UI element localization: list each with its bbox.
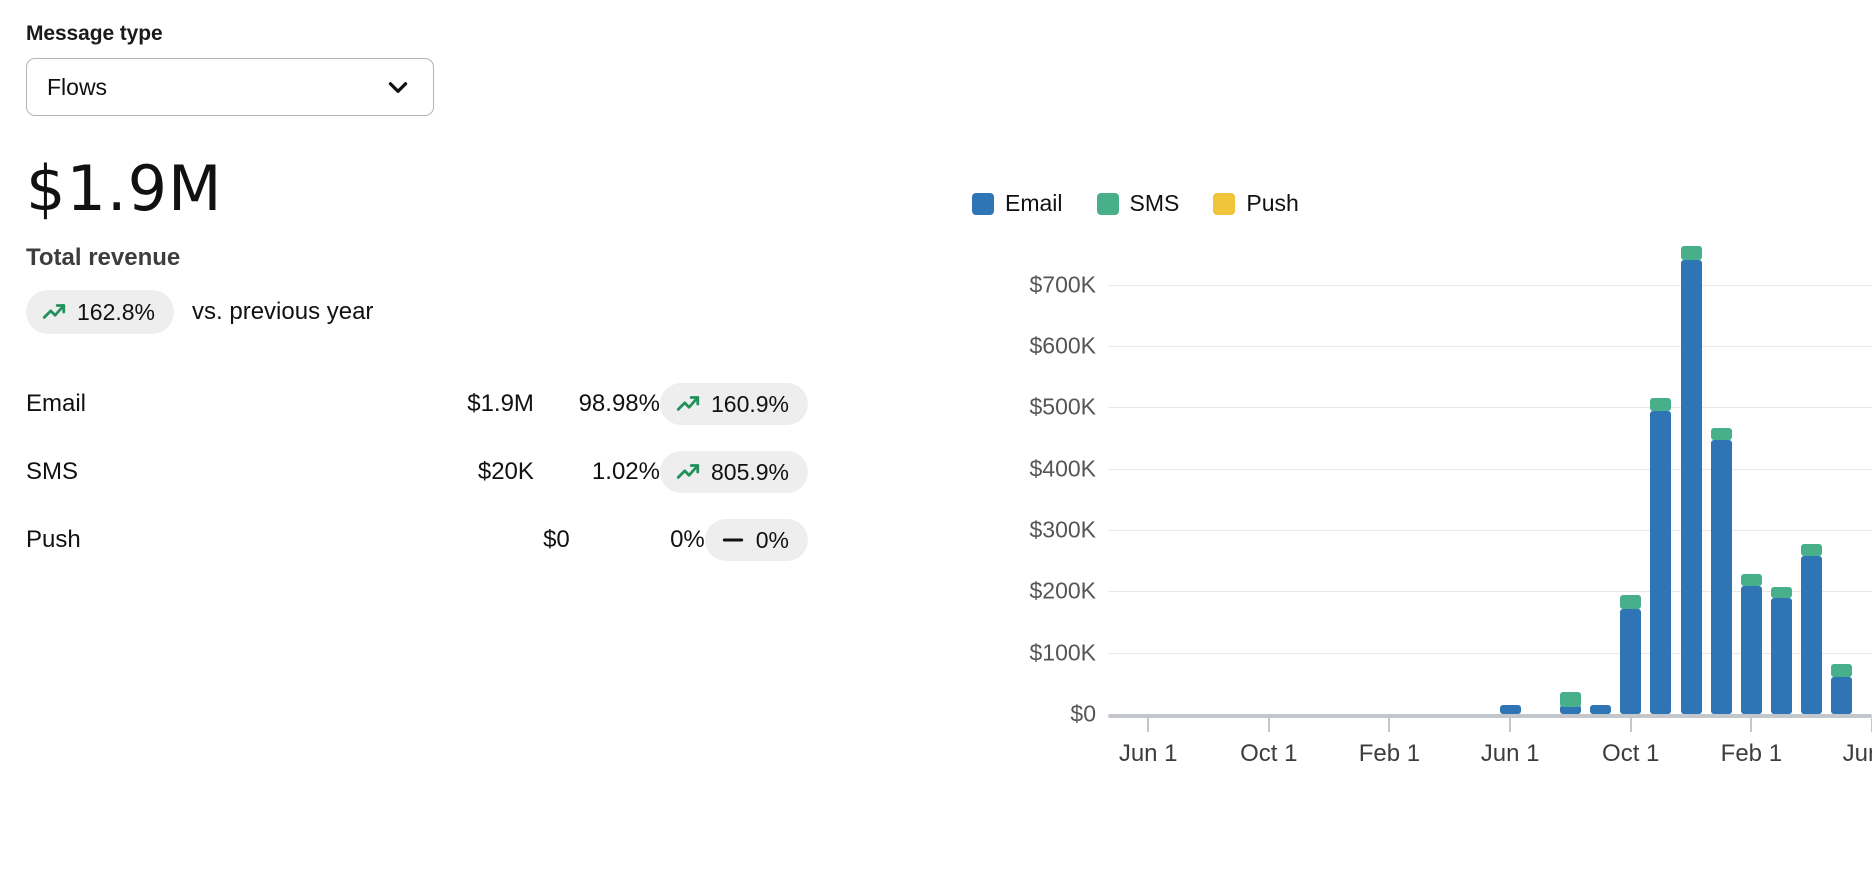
- bar-segment-email: [1681, 260, 1702, 714]
- y-axis-tick-label: $300K: [1029, 517, 1096, 544]
- y-axis-labels: $0$100K$200K$300K$400K$500K$600K$700K: [960, 248, 1096, 718]
- bar-column[interactable]: [1711, 428, 1732, 714]
- channel-breakdown-table: Email $1.9M 98.98% 160.9%: [26, 370, 936, 574]
- y-axis-tick-label: $500K: [1029, 394, 1096, 421]
- total-revenue-value: $1.9M: [26, 158, 956, 220]
- channel-name: SMS: [26, 458, 431, 486]
- bar-segment-email: [1620, 609, 1641, 714]
- x-axis-labels: Jun 1Oct 1Feb 1Jun 1Oct 1Feb 1Jun 1: [1108, 740, 1872, 780]
- legend-swatch-push: [1213, 193, 1235, 215]
- comparison-period-label: vs. previous year: [192, 298, 373, 326]
- bar-segment-sms: [1711, 428, 1732, 440]
- x-axis-tick: [1630, 718, 1632, 732]
- x-axis-tick-label: Jun 1: [1843, 740, 1872, 768]
- channel-delta-cell: 805.9%: [660, 451, 936, 493]
- bar-segment-sms: [1650, 398, 1671, 410]
- channel-name: Email: [26, 390, 431, 418]
- bar-segment-email: [1831, 677, 1852, 714]
- chevron-down-icon: [385, 74, 411, 100]
- bar-segment-email: [1711, 440, 1732, 714]
- x-axis-ticks: [1108, 718, 1872, 734]
- y-axis-tick-label: $600K: [1029, 333, 1096, 360]
- y-axis-tick-label: $0: [1070, 701, 1096, 728]
- bar-segment-email: [1650, 411, 1671, 715]
- legend-label-sms: SMS: [1130, 190, 1180, 217]
- channel-name: Push: [26, 526, 459, 554]
- channel-delta-value: 0%: [756, 527, 789, 554]
- x-axis-tick-label: Jun 1: [1481, 740, 1540, 768]
- x-axis-tick: [1509, 718, 1511, 732]
- bar-segment-sms: [1831, 664, 1852, 677]
- chart-plot-area: $0$100K$200K$300K$400K$500K$600K$700K Ju…: [960, 248, 1872, 788]
- message-type-select[interactable]: Flows: [26, 58, 434, 116]
- channel-delta-cell: 0%: [705, 519, 936, 561]
- chart-legend: Email SMS Push: [972, 190, 1299, 217]
- channel-delta-value: 160.9%: [711, 391, 789, 418]
- channel-share: 0%: [570, 526, 705, 554]
- bar-column[interactable]: [1590, 705, 1611, 714]
- total-revenue-delta-badge: 162.8%: [26, 290, 174, 334]
- bar-column[interactable]: [1500, 706, 1521, 714]
- bar-segment-sms: [1560, 692, 1581, 707]
- trending-up-icon: [675, 459, 701, 485]
- y-axis-tick-label: $400K: [1029, 455, 1096, 482]
- bar-column[interactable]: [1801, 544, 1822, 714]
- comparison-row: 162.8% vs. previous year: [26, 290, 956, 334]
- total-revenue-delta-value: 162.8%: [77, 299, 155, 326]
- revenue-analytics-panel: Message type Flows $1.9M Total revenue 1…: [0, 0, 1872, 880]
- chart-bars: [1108, 248, 1872, 714]
- channel-delta-value: 805.9%: [711, 459, 789, 486]
- y-axis-tick-label: $700K: [1029, 271, 1096, 298]
- channel-delta-badge: 805.9%: [660, 451, 808, 493]
- legend-item-sms[interactable]: SMS: [1097, 190, 1180, 217]
- bar-segment-sms: [1741, 574, 1762, 586]
- x-axis-tick-label: Oct 1: [1240, 740, 1297, 768]
- y-axis-tick-label: $200K: [1029, 578, 1096, 605]
- legend-item-email[interactable]: Email: [972, 190, 1063, 217]
- legend-swatch-email: [972, 193, 994, 215]
- bar-column[interactable]: [1560, 692, 1581, 714]
- bar-segment-email: [1801, 556, 1822, 714]
- bar-segment-sms: [1771, 587, 1792, 597]
- x-axis-tick: [1147, 718, 1149, 732]
- channel-delta-badge: 0%: [705, 519, 808, 561]
- x-axis-tick-label: Feb 1: [1721, 740, 1782, 768]
- bar-segment-email: [1741, 586, 1762, 714]
- x-axis-tick-label: Oct 1: [1602, 740, 1659, 768]
- message-type-label: Message type: [26, 22, 956, 46]
- chart-grid: [1108, 248, 1872, 718]
- trending-up-icon: [41, 299, 67, 325]
- x-axis-tick-label: Jun 1: [1119, 740, 1178, 768]
- table-row: Push $0 0% 0%: [26, 506, 936, 574]
- bar-segment-email: [1590, 705, 1611, 714]
- bar-column[interactable]: [1650, 398, 1671, 714]
- trending-flat-icon: [720, 527, 746, 553]
- x-axis-tick: [1750, 718, 1752, 732]
- channel-amount: $1.9M: [431, 390, 534, 418]
- total-revenue-caption: Total revenue: [26, 244, 956, 272]
- channel-delta-cell: 160.9%: [660, 383, 936, 425]
- bar-segment-sms: [1801, 544, 1822, 557]
- channel-share: 1.02%: [534, 458, 660, 486]
- bar-column[interactable]: [1771, 587, 1792, 714]
- bar-column[interactable]: [1681, 246, 1702, 714]
- trending-up-icon: [675, 391, 701, 417]
- message-type-selected-value: Flows: [47, 74, 107, 101]
- bar-segment-email: [1500, 705, 1521, 714]
- table-row: Email $1.9M 98.98% 160.9%: [26, 370, 936, 438]
- bar-segment-email: [1771, 598, 1792, 715]
- channel-delta-badge: 160.9%: [660, 383, 808, 425]
- summary-column: Message type Flows $1.9M Total revenue 1…: [26, 0, 956, 880]
- channel-share: 98.98%: [534, 390, 660, 418]
- legend-label-push: Push: [1246, 190, 1298, 217]
- x-axis-tick-label: Feb 1: [1359, 740, 1420, 768]
- legend-swatch-sms: [1097, 193, 1119, 215]
- y-axis-tick-label: $100K: [1029, 639, 1096, 666]
- bar-column[interactable]: [1620, 595, 1641, 714]
- bar-segment-sms: [1681, 246, 1702, 260]
- x-axis-tick: [1268, 718, 1270, 732]
- channel-amount: $0: [459, 526, 569, 554]
- bar-segment-sms: [1620, 595, 1641, 608]
- legend-item-push[interactable]: Push: [1213, 190, 1298, 217]
- bar-column[interactable]: [1741, 574, 1762, 714]
- channel-amount: $20K: [431, 458, 534, 486]
- bar-column[interactable]: [1831, 664, 1852, 714]
- legend-label-email: Email: [1005, 190, 1063, 217]
- revenue-chart: Email SMS Push $0$100K$200K$300K$400K$50…: [960, 0, 1872, 880]
- table-row: SMS $20K 1.02% 805.9%: [26, 438, 936, 506]
- x-axis-tick: [1388, 718, 1390, 732]
